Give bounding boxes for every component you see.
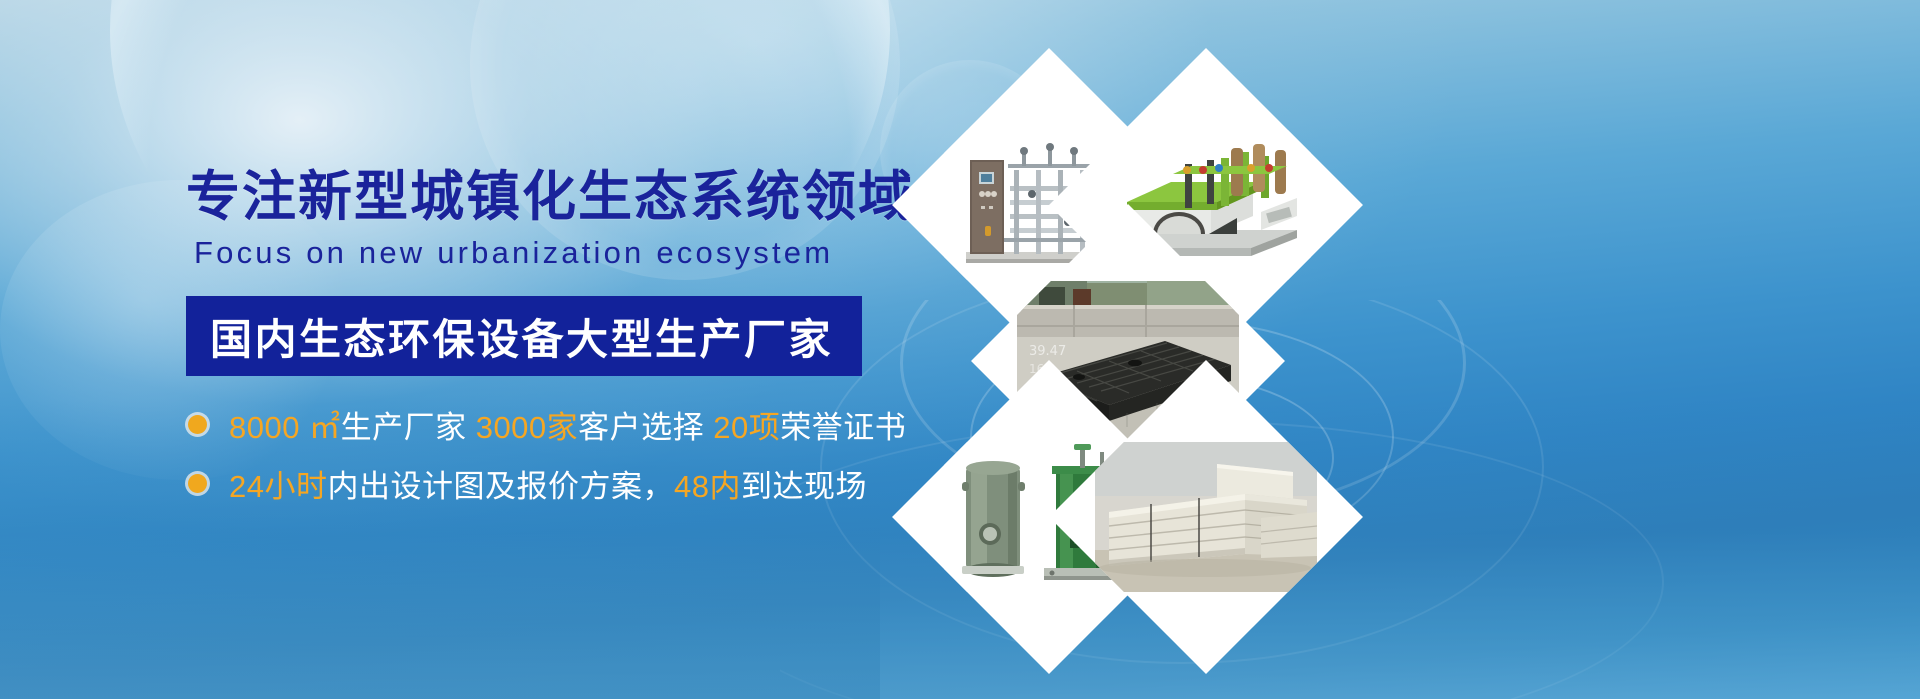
feature-plain: 荣誉证书 <box>780 410 906 445</box>
highlight-banner-box: 国内生态环保设备大型生产厂家 <box>186 296 862 376</box>
feature-text: 8000 ㎡生产厂家 3000家客户选择 20项荣誉证书 <box>229 402 906 447</box>
banner-copy: 专注新型城镇化生态系统领域 Focus on new urbanization … <box>186 168 886 522</box>
feature-highlight: 20项 <box>713 410 780 445</box>
feature-plain: 内出设计图及报价方案， <box>327 469 674 504</box>
list-item: 24小时内出设计图及报价方案，48内到达现场 <box>186 461 886 506</box>
page-title: 专注新型城镇化生态系统领域 <box>186 168 886 226</box>
feature-plain: 客户选择 <box>578 410 713 445</box>
bullet-dot-icon <box>188 415 207 434</box>
bullet-dot-icon <box>188 474 207 493</box>
list-item: 8000 ㎡生产厂家 3000家客户选择 20项荣誉证书 <box>186 402 886 447</box>
page-subtitle: Focus on new urbanization ecosystem <box>194 236 886 270</box>
water-surface-gradient <box>0 499 880 699</box>
feature-highlight: 24小时 <box>229 469 327 504</box>
hero-banner: 专注新型城镇化生态系统领域 Focus on new urbanization … <box>0 0 1920 699</box>
precast-wall-panel-stack-photo <box>1095 442 1317 592</box>
feature-highlight: 3000家 <box>476 410 578 445</box>
feature-plain: 到达现场 <box>741 469 867 504</box>
feature-plain: 生产厂家 <box>341 410 476 445</box>
product-diamond-gallery: 39.47 16.9 <box>905 72 1325 632</box>
svg-text:39.47: 39.47 <box>1029 344 1066 359</box>
feature-highlight: 8000 ㎡ <box>229 410 341 445</box>
feature-list: 8000 ㎡生产厂家 3000家客户选择 20项荣誉证书 24小时内出设计图及报… <box>186 402 886 506</box>
feature-highlight: 48内 <box>674 469 741 504</box>
highlight-banner-text: 国内生态环保设备大型生产厂家 <box>210 306 833 367</box>
feature-text: 24小时内出设计图及报价方案，48内到达现场 <box>229 461 867 506</box>
